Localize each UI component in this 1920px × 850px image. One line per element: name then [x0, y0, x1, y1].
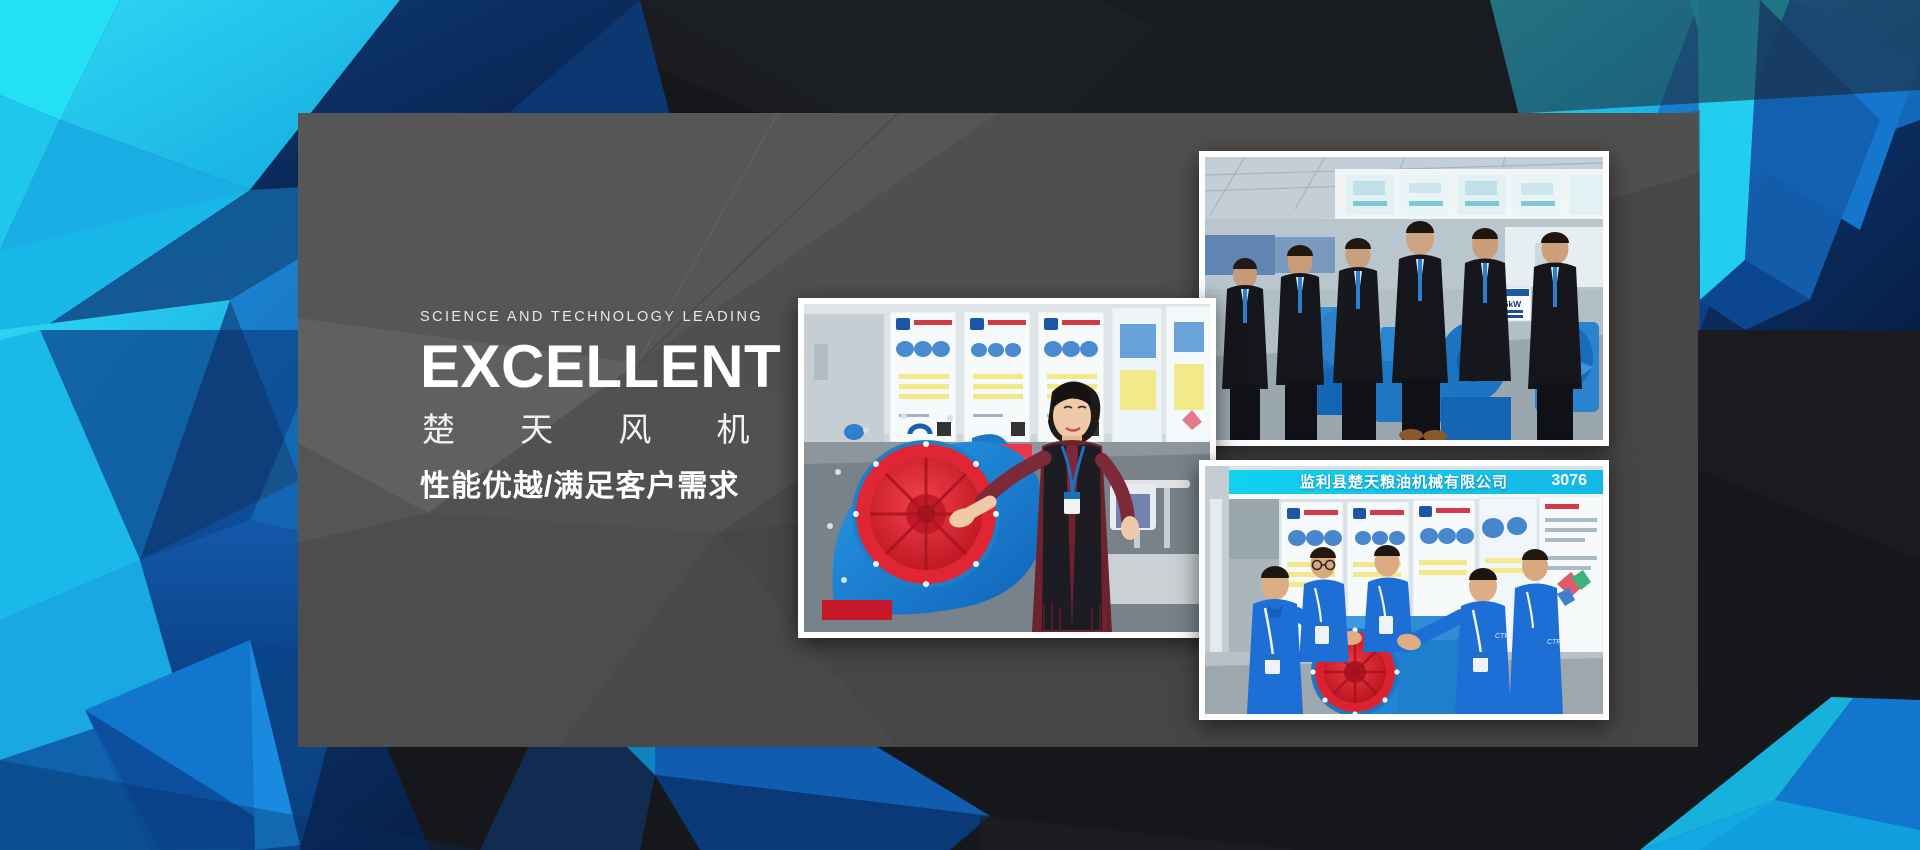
team-polos-illustration: CTFJ CTFJ [1205, 466, 1603, 714]
booth-banner-text: 监利县楚天粮油机械有限公司 [1205, 466, 1603, 496]
photo-card-presenter-with-blue-fan[interactable] [798, 298, 1216, 638]
svg-text:CTFJ: CTFJ [1495, 633, 1513, 640]
photo-image-presenter [804, 304, 1210, 632]
hero-banner: SCIENCE AND TECHNOLOGY LEADING EXCELLENT… [0, 0, 1920, 850]
photo-card-exhibition-team-suits[interactable]: CT 7.5kW [1199, 151, 1609, 446]
photo-card-exhibition-team-polos[interactable]: CTFJ CTFJ 监利县楚天粮油机械有限公司 3076 [1199, 460, 1609, 720]
photo-image-team-suits: CT 7.5kW [1205, 157, 1603, 440]
team-suits-illustration: CT 7.5kW [1205, 157, 1603, 440]
booth-number: 3076 [1551, 466, 1587, 496]
svg-text:CTFJ: CTFJ [1547, 639, 1565, 646]
presenter-illustration [804, 304, 1210, 632]
photo-image-team-polos: CTFJ CTFJ 监利县楚天粮油机械有限公司 3076 [1205, 466, 1603, 714]
